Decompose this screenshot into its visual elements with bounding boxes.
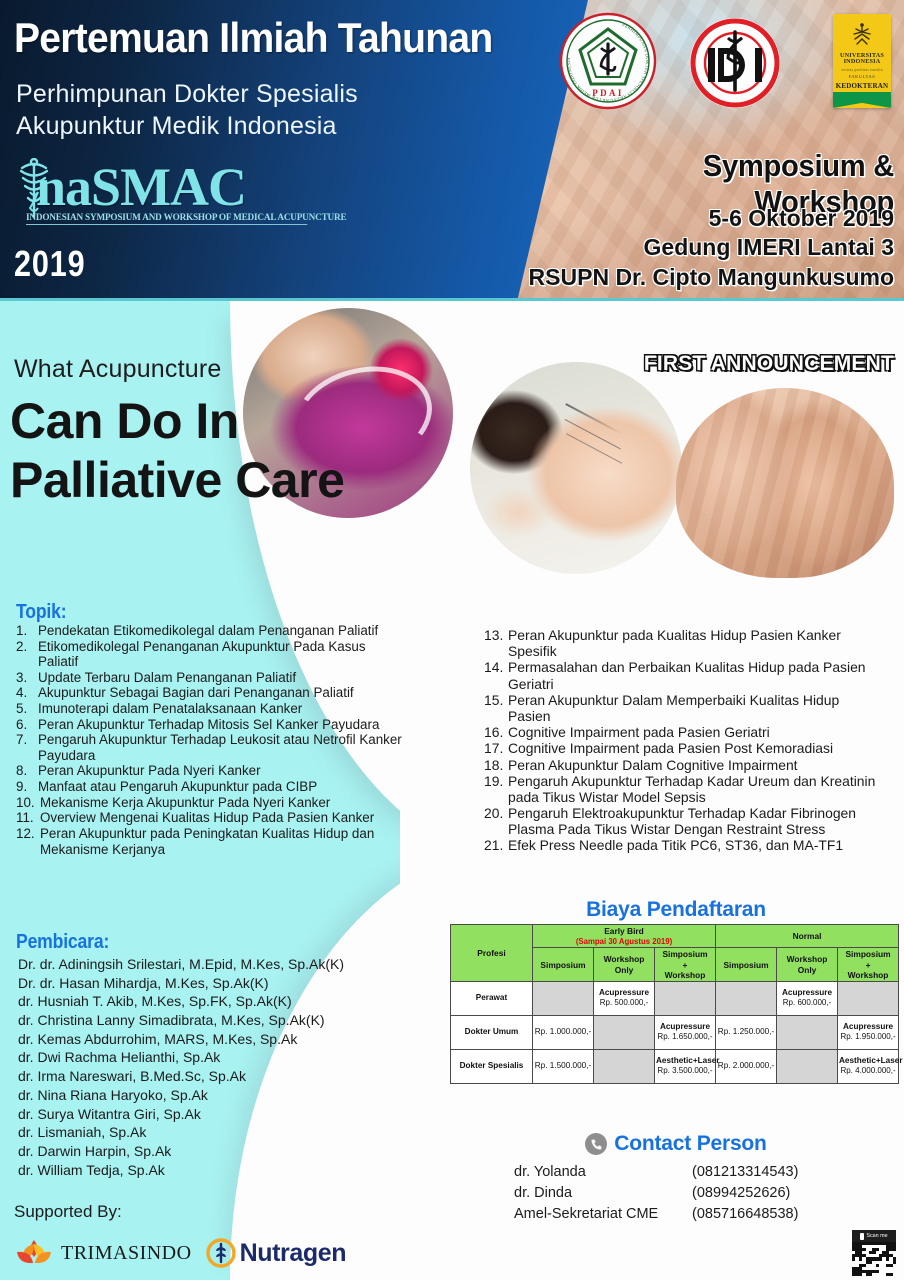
- topic-number: 3.: [16, 670, 38, 686]
- organization-subtitle-line2: Akupunktur Medik Indonesia: [16, 110, 476, 142]
- first-announcement-badge: FIRST ANNOUNCEMENT: [540, 352, 894, 376]
- topic-number: 1.: [16, 623, 38, 639]
- topic-number: 16.: [484, 724, 508, 740]
- phone-icon: [585, 1133, 607, 1155]
- fee-subheader-4: WorkshopOnly: [777, 948, 838, 981]
- contact-row: dr. Dinda(08994252626): [514, 1183, 854, 1204]
- topic-number: 15.: [484, 692, 508, 724]
- contact-name: dr. Dinda: [514, 1183, 692, 1204]
- topic-text: Permasalahan dan Perbaikan Kualitas Hidu…: [508, 659, 884, 691]
- fee-cell-package: Aesthetic+LaserRp. 4.000.000,-: [838, 1049, 899, 1083]
- speaker-name: dr. Kemas Abdurrohim, MARS, M.Kes, Sp.Ak: [18, 1030, 418, 1049]
- trimasindo-name: TRIMASINDO: [61, 1242, 192, 1265]
- fee-cell-package: Aesthetic+LaserRp. 3.500.000,-: [655, 1049, 716, 1083]
- fee-table-row: Perawat AcupressureRp. 500.000,- Acupres…: [451, 981, 899, 1015]
- fee-table-head: Profesi Early Bird (Sampai 30 Agustus 20…: [451, 925, 899, 982]
- speaker-name: dr. Irma Nareswari, B.Med.Sc, Sp.Ak: [18, 1067, 418, 1086]
- inasmac-logo: naSMAC INDONESIAN SYMPOSIUM AND WORKSHOP…: [8, 160, 328, 228]
- wheat-circle-icon: [206, 1237, 236, 1269]
- topic-text: Cognitive Impairment pada Pasien Post Ke…: [508, 740, 884, 756]
- ui-motto: veritas probitas iustitia: [833, 67, 891, 72]
- topic-number: 13.: [484, 627, 508, 659]
- fee-header-early-bird-label: Early Bird: [604, 926, 644, 936]
- speaker-name: dr. Christina Lanny Simadibrata, M.Kes, …: [18, 1011, 418, 1030]
- topic-item: 14.Permasalahan dan Perbaikan Kualitas H…: [484, 659, 884, 691]
- nutragen-name: Nutragen: [240, 1239, 347, 1268]
- topic-item: 8.Peran Akupunktur Pada Nyeri Kanker: [16, 763, 406, 779]
- fee-subheader-2: Simposium+Workshop: [655, 948, 716, 981]
- fee-row-profesi: Dokter Umum: [451, 1015, 533, 1049]
- speaker-name: dr. Surya Witantra Giri, Sp.Ak: [18, 1105, 418, 1124]
- fee-package-name: Acupressure: [839, 1022, 897, 1032]
- headline-line2: Palliative Care: [10, 451, 410, 510]
- topic-item: 13.Peran Akupunktur pada Kualitas Hidup …: [484, 627, 884, 659]
- qr-scan-label: Scan me: [852, 1230, 896, 1242]
- headline-line1: Can Do In: [10, 392, 410, 451]
- trimasindo-logo: TRIMASINDO: [14, 1236, 192, 1270]
- fee-table-body: Perawat AcupressureRp. 500.000,- Acupres…: [451, 981, 899, 1083]
- topic-item: 7.Pengaruh Akupunktur Terhadap Leukosit …: [16, 732, 406, 763]
- contact-name: Amel-Sekretariat CME: [514, 1204, 692, 1225]
- topic-number: 19.: [484, 773, 508, 805]
- speaker-name: dr. William Tedja, Sp.Ak: [18, 1161, 418, 1180]
- fee-cell-price: Rp. 2.000.000,-: [716, 1049, 777, 1083]
- topic-text: Peran Akupunktur Dalam Memperbaiki Kuali…: [508, 692, 884, 724]
- speaker-name: dr. Darwin Harpin, Sp.Ak: [18, 1142, 418, 1161]
- makara-icon: [849, 22, 875, 48]
- organization-subtitle-line1: Perhimpunan Dokter Spesialis: [16, 78, 476, 110]
- topics-list-right: 13.Peran Akupunktur pada Kualitas Hidup …: [484, 627, 884, 854]
- topic-item: 16.Cognitive Impairment pada Pasien Geri…: [484, 724, 884, 740]
- fee-cell-package: AcupressureRp. 600.000,-: [777, 981, 838, 1015]
- fee-package-price: Rp. 3.500.000,-: [656, 1066, 714, 1076]
- fee-cell-empty: [777, 1015, 838, 1049]
- topic-item: 10.Mekanisme Kerja Akupunktur Pada Nyeri…: [16, 795, 406, 811]
- topic-number: 6.: [16, 717, 38, 733]
- lotus-icon: [14, 1236, 54, 1270]
- fee-cell-price: Rp. 1.250.000,-: [716, 1015, 777, 1049]
- topic-text: Peran Akupunktur Terhadap Mitosis Sel Ka…: [38, 717, 406, 733]
- poster-header: Pertemuan Ilmiah Tahunan Perhimpunan Dok…: [0, 0, 904, 300]
- fee-cell-empty: [838, 981, 899, 1015]
- topic-text: Peran Akupunktur Dalam Cognitive Impairm…: [508, 757, 884, 773]
- contact-row: dr. Yolanda(081213314543): [514, 1162, 854, 1183]
- topic-text: Efek Press Needle pada Titik PC6, ST36, …: [508, 837, 884, 853]
- fees-heading: Biaya Pendaftaran: [448, 898, 904, 922]
- poster-root: Pertemuan Ilmiah Tahunan Perhimpunan Dok…: [0, 0, 904, 1280]
- qr-code[interactable]: Scan me: [852, 1230, 896, 1276]
- topic-number: 21.: [484, 837, 508, 853]
- sponsor-logos: TRIMASINDO Nutragen: [14, 1236, 346, 1270]
- inasmac-wordmark: naSMAC: [36, 156, 246, 218]
- topic-number: 9.: [16, 779, 38, 795]
- topic-text: Update Terbaru Dalam Penanganan Paliatif: [38, 670, 406, 686]
- topic-number: 12.: [16, 826, 40, 857]
- topic-text: Manfaat atau Pengaruh Akupunktur pada CI…: [38, 779, 406, 795]
- fee-package-price: Rp. 4.000.000,-: [839, 1066, 897, 1076]
- fee-cell-empty: [594, 1015, 655, 1049]
- fee-row-profesi: Dokter Spesialis: [451, 1049, 533, 1083]
- topic-text: Pengaruh Elektroakupunktur Terhadap Kada…: [508, 805, 884, 837]
- topic-number: 20.: [484, 805, 508, 837]
- fee-cell-package: AcupressureRp. 1.950.000,-: [838, 1015, 899, 1049]
- speaker-name: Dr. dr. Adiningsih Srilestari, M.Epid, M…: [18, 955, 418, 974]
- contact-list: dr. Yolanda(081213314543)dr. Dinda(08994…: [514, 1162, 854, 1225]
- speaker-name: Dr. dr. Hasan Mihardja, M.Kes, Sp.Ak(K): [18, 974, 418, 993]
- topic-text: Peran Akupunktur pada Peningkatan Kualit…: [40, 826, 406, 857]
- fee-package-name: Aesthetic+Laser: [656, 1056, 714, 1066]
- topic-item: 6.Peran Akupunktur Terhadap Mitosis Sel …: [16, 717, 406, 733]
- event-date: 5-6 Oktober 2019: [430, 204, 894, 233]
- fee-subheader-3: Simposium: [716, 948, 777, 981]
- topics-heading: Topik:: [16, 601, 66, 624]
- fee-package-name: Aesthetic+Laser: [839, 1056, 897, 1066]
- fee-cell-empty: [716, 981, 777, 1015]
- idi-logo: [688, 16, 782, 110]
- topic-text: Peran Akupunktur Pada Nyeri Kanker: [38, 763, 406, 779]
- topic-text: Imunoterapi dalam Penatalaksanaan Kanker: [38, 701, 406, 717]
- topic-number: 11.: [16, 810, 40, 826]
- topic-item: 15.Peran Akupunktur Dalam Memperbaiki Ku…: [484, 692, 884, 724]
- headline-small: What Acupuncture: [14, 355, 222, 384]
- contact-name: dr. Yolanda: [514, 1162, 692, 1183]
- fee-package-name: Acupressure: [778, 988, 836, 998]
- topic-item: 1.Pendekatan Etikomedikolegal dalam Pena…: [16, 623, 406, 639]
- fee-table-row: Dokter SpesialisRp. 1.500.000,- Aestheti…: [451, 1049, 899, 1083]
- topic-number: 7.: [16, 732, 38, 763]
- topics-list-left: 1.Pendekatan Etikomedikolegal dalam Pena…: [16, 623, 406, 857]
- topic-text: Etikomedikolegal Penanganan Akupunktur P…: [38, 639, 406, 670]
- facial-acupuncture-photo: [470, 362, 682, 574]
- topic-number: 2.: [16, 639, 38, 670]
- topic-item: 4.Akupunktur Sebagai Bagian dari Penanga…: [16, 685, 406, 701]
- fee-cell-empty: [533, 981, 594, 1015]
- fee-package-price: Rp. 1.650.000,-: [656, 1032, 714, 1042]
- topic-text: Cognitive Impairment pada Pasien Geriatr…: [508, 724, 884, 740]
- speakers-list: Dr. dr. Adiningsih Srilestari, M.Epid, M…: [18, 955, 418, 1179]
- phone-small-icon: [860, 1233, 864, 1240]
- contact-heading: Contact Person: [448, 1132, 904, 1156]
- topic-item: 3.Update Terbaru Dalam Penanganan Paliat…: [16, 670, 406, 686]
- topic-item: 19.Pengaruh Akupunktur Terhadap Kadar Ur…: [484, 773, 884, 805]
- speaker-name: dr. Dwi Rachma Helianthi, Sp.Ak: [18, 1048, 418, 1067]
- fee-package-price: Rp. 500.000,-: [595, 998, 653, 1008]
- topic-number: 8.: [16, 763, 38, 779]
- fee-cell-price: Rp. 1.000.000,-: [533, 1015, 594, 1049]
- pdai-logo: PDAI PERHIMPUNAN DOKTER SPESIALIS AKUPUN…: [559, 12, 657, 110]
- topic-item: 5.Imunoterapi dalam Penatalaksanaan Kank…: [16, 701, 406, 717]
- contact-row: Amel-Sekretariat CME(085716648538): [514, 1204, 854, 1225]
- fee-cell-empty: [594, 1049, 655, 1083]
- topic-item: 18.Peran Akupunktur Dalam Cognitive Impa…: [484, 757, 884, 773]
- holding-hands-photo: [676, 388, 894, 578]
- speaker-name: dr. Nina Riana Haryoko, Sp.Ak: [18, 1086, 418, 1105]
- fee-table-group-row: Profesi Early Bird (Sampai 30 Agustus 20…: [451, 925, 899, 948]
- topic-text: Pengaruh Akupunktur Terhadap Leukosit at…: [38, 732, 406, 763]
- qr-scan-text: Scan me: [866, 1233, 887, 1239]
- headline-main: Can Do In Palliative Care: [10, 392, 410, 510]
- topic-number: 18.: [484, 757, 508, 773]
- fee-cell-empty: [777, 1049, 838, 1083]
- fee-header-early-bird-note: (Sampai 30 Agustus 2019): [576, 937, 672, 946]
- contact-title: Contact Person: [614, 1132, 766, 1156]
- contact-phone: (081213314543): [692, 1162, 798, 1183]
- fee-cell-package: AcupressureRp. 1.650.000,-: [655, 1015, 716, 1049]
- speaker-name: dr. Lismaniah, Sp.Ak: [18, 1123, 418, 1142]
- ui-faculty-label: FAKULTAS: [833, 74, 891, 79]
- topic-item: 21.Efek Press Needle pada Titik PC6, ST3…: [484, 837, 884, 853]
- fee-header-profesi: Profesi: [451, 925, 533, 982]
- contact-phone: (08994252626): [692, 1183, 790, 1204]
- fee-package-name: Acupressure: [656, 1022, 714, 1032]
- topic-number: 14.: [484, 659, 508, 691]
- topic-item: 11.Overview Mengenai Kualitas Hidup Pada…: [16, 810, 406, 826]
- topic-item: 2.Etikomedikolegal Penanganan Akupunktur…: [16, 639, 406, 670]
- topic-text: Pendekatan Etikomedikolegal dalam Penang…: [38, 623, 406, 639]
- fee-header-early-bird: Early Bird (Sampai 30 Agustus 2019): [533, 925, 716, 948]
- topic-item: 9.Manfaat atau Pengaruh Akupunktur pada …: [16, 779, 406, 795]
- fee-subheader-0: Simposium: [533, 948, 594, 981]
- page-title: Pertemuan Ilmiah Tahunan: [14, 14, 516, 62]
- topic-text: Peran Akupunktur pada Kualitas Hidup Pas…: [508, 627, 884, 659]
- fee-table-row: Dokter UmumRp. 1.000.000,- AcupressureRp…: [451, 1015, 899, 1049]
- topic-number: 5.: [16, 701, 38, 717]
- fee-cell-price: Rp. 1.500.000,-: [533, 1049, 594, 1083]
- supported-by-label: Supported By:: [14, 1202, 122, 1222]
- nutragen-logo: Nutragen: [206, 1237, 347, 1269]
- fee-package-name: Acupressure: [595, 988, 653, 998]
- inasmac-tagline: INDONESIAN SYMPOSIUM AND WORKSHOP OF MED…: [26, 213, 307, 225]
- topic-item: 20.Pengaruh Elektroakupunktur Terhadap K…: [484, 805, 884, 837]
- qr-cell: [893, 1273, 896, 1276]
- fee-row-profesi: Perawat: [451, 981, 533, 1015]
- topic-text: Overview Mengenai Kualitas Hidup Pada Pa…: [40, 810, 406, 826]
- topic-number: 4.: [16, 685, 38, 701]
- speaker-name: dr. Husniah T. Akib, M.Kes, Sp.FK, Sp.Ak…: [18, 992, 418, 1011]
- speakers-heading: Pembicara:: [16, 931, 109, 954]
- fee-header-normal: Normal: [716, 925, 899, 948]
- event-venue-line1: Gedung IMERI Lantai 3: [430, 233, 894, 262]
- fee-package-price: Rp. 1.950.000,-: [839, 1032, 897, 1042]
- organization-subtitle: Perhimpunan Dokter Spesialis Akupunktur …: [16, 78, 476, 142]
- event-venue-line2: RSUPN Dr. Cipto Mangunkusumo: [430, 263, 894, 292]
- topic-text: Mekanisme Kerja Akupunktur Pada Nyeri Ka…: [40, 795, 406, 811]
- ui-name-line2: INDONESIA: [833, 58, 891, 65]
- fee-cell-empty: [655, 981, 716, 1015]
- fee-subheader-5: Simposium+Workshop: [838, 948, 899, 981]
- topic-item: 17.Cognitive Impairment pada Pasien Post…: [484, 740, 884, 756]
- contact-phone: (085716648538): [692, 1204, 798, 1225]
- event-year: 2019: [14, 243, 85, 285]
- qr-matrix: [852, 1242, 896, 1276]
- topic-text: Akupunktur Sebagai Bagian dari Penangana…: [38, 685, 406, 701]
- fee-package-price: Rp. 600.000,-: [778, 998, 836, 1008]
- ui-fk-logo: UNIVERSITAS INDONESIA veritas probitas i…: [833, 14, 891, 108]
- event-details: 5-6 Oktober 2019 Gedung IMERI Lantai 3 R…: [430, 204, 894, 292]
- registration-fee-table: Profesi Early Bird (Sampai 30 Agustus 20…: [450, 924, 899, 1084]
- topic-text: Pengaruh Akupunktur Terhadap Kadar Ureum…: [508, 773, 884, 805]
- fee-cell-package: AcupressureRp. 500.000,-: [594, 981, 655, 1015]
- topic-number: 10.: [16, 795, 40, 811]
- topic-item: 12.Peran Akupunktur pada Peningkatan Kua…: [16, 826, 406, 857]
- topic-number: 17.: [484, 740, 508, 756]
- fee-subheader-1: WorkshopOnly: [594, 948, 655, 981]
- ui-faculty-name: KEDOKTERAN: [833, 82, 891, 90]
